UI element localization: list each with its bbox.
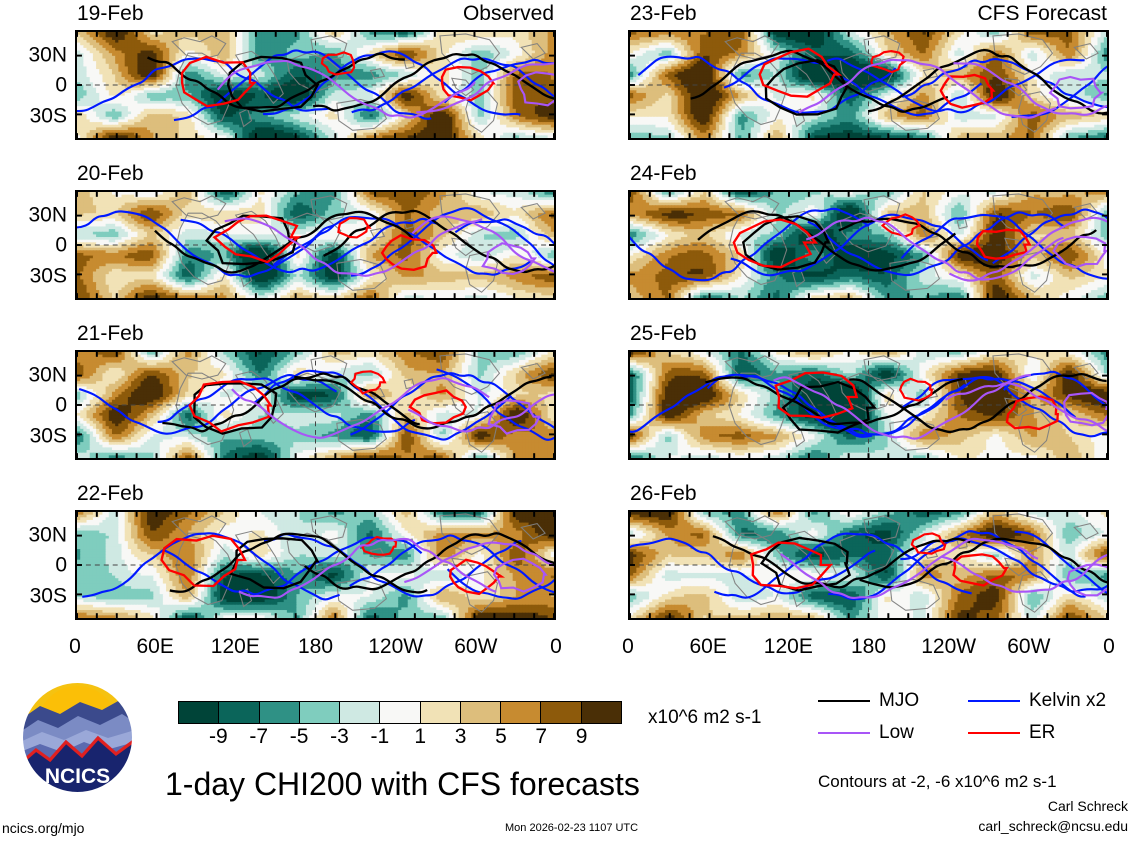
map-panel-22-feb: 22-Feb30N030S — [75, 510, 556, 620]
colorbar-tick-label: -5 — [290, 726, 309, 747]
map-field — [77, 192, 554, 298]
page-title: 1-day CHI200 with CFS forecasts — [165, 766, 640, 803]
colorbar-swatch — [219, 702, 259, 723]
panel-column-header: CFS Forecast — [977, 3, 1107, 24]
y-tick-label: 30S — [30, 425, 67, 446]
colorbar-units-label: x10^6 m2 s-1 — [648, 707, 761, 729]
colorbar-tick-label: -9 — [209, 726, 228, 747]
x-tick-label: 0 — [69, 636, 81, 657]
legend-label-low: Low — [879, 722, 914, 744]
site-url[interactable]: ncics.org/mjo — [2, 820, 84, 836]
map-panel-24-feb: 24-Feb — [628, 190, 1109, 300]
y-tick-label: 30N — [28, 204, 67, 225]
panel-date-label: 21-Feb — [77, 323, 144, 344]
author-email: carl_schreck@ncsu.edu — [978, 818, 1128, 834]
map-canvas — [628, 510, 1109, 620]
y-tick-label: 30N — [28, 364, 67, 385]
legend-label-kelvin: Kelvin x2 — [1029, 690, 1106, 712]
ncics-logo: NCICS — [20, 680, 135, 795]
colorbar-tick-label: 1 — [414, 726, 426, 747]
panel-date-label: 19-Feb — [77, 3, 144, 24]
map-field — [630, 192, 1107, 298]
y-tick-label: 30N — [28, 524, 67, 545]
colorbar-swatch — [582, 702, 621, 723]
x-tick-label: 120E — [211, 636, 260, 657]
colorbar: -9-7-5-3-113579 — [178, 701, 622, 752]
colorbar-tick-label: -1 — [370, 726, 389, 747]
map-canvas — [628, 30, 1109, 140]
colorbar-swatch — [300, 702, 340, 723]
legend-item-mjo: MJO — [818, 690, 968, 712]
map-canvas — [75, 510, 556, 620]
map-panel-23-feb: 23-FebCFS Forecast — [628, 30, 1109, 140]
chart-page: 19-FebObserved30N030S20-Feb30N030S21-Feb… — [0, 0, 1135, 844]
colorbar-swatch — [380, 702, 420, 723]
y-tick-label: 30N — [28, 44, 67, 65]
map-panel-20-feb: 20-Feb30N030S — [75, 190, 556, 300]
legend-item-low: Low — [818, 722, 968, 744]
x-tick-label: 0 — [622, 636, 634, 657]
colorbar-ticklabels: -9-7-5-3-113579 — [178, 726, 622, 752]
x-tick-label: 60W — [1007, 636, 1050, 657]
x-tick-label: 180 — [851, 636, 886, 657]
colorbar-tick-label: 3 — [455, 726, 467, 747]
colorbar-swatch — [541, 702, 581, 723]
map-field — [630, 512, 1107, 618]
map-field — [77, 352, 554, 458]
legend-label-mjo: MJO — [879, 690, 919, 712]
x-tick-label: 60W — [454, 636, 497, 657]
x-tick-label: 0 — [550, 636, 562, 657]
map-field — [630, 32, 1107, 138]
x-tick-label: 0 — [1103, 636, 1115, 657]
map-canvas — [75, 350, 556, 460]
colorbar-swatches — [178, 701, 622, 724]
map-canvas — [628, 350, 1109, 460]
map-canvas — [75, 30, 556, 140]
y-tick-label: 30S — [30, 585, 67, 606]
er-line-swatch — [968, 732, 1020, 734]
map-field — [77, 512, 554, 618]
legend-label-er: ER — [1029, 722, 1055, 744]
colorbar-tick-label: 7 — [535, 726, 547, 747]
colorbar-swatch — [461, 702, 501, 723]
y-tick-label: 30S — [30, 105, 67, 126]
colorbar-tick-label: -7 — [249, 726, 268, 747]
x-tick-label: 60E — [689, 636, 726, 657]
panel-date-label: 25-Feb — [630, 323, 697, 344]
legend-item-er: ER — [968, 722, 1128, 744]
map-field — [77, 32, 554, 138]
panel-date-label: 20-Feb — [77, 163, 144, 184]
y-tick-label: 0 — [55, 235, 67, 256]
y-tick-label: 0 — [55, 555, 67, 576]
colorbar-swatch — [421, 702, 461, 723]
panel-date-label: 22-Feb — [77, 483, 144, 504]
panel-date-label: 23-Feb — [630, 3, 697, 24]
y-tick-label: 30S — [30, 265, 67, 286]
colorbar-swatch — [340, 702, 380, 723]
x-tick-label: 180 — [298, 636, 333, 657]
map-field — [630, 352, 1107, 458]
colorbar-swatch — [260, 702, 300, 723]
x-axis-left: 060E120E180120W60W0 — [75, 636, 556, 662]
contour-note: Contours at -2, -6 x10^6 m2 s-1 — [818, 772, 1057, 792]
colorbar-tick-label: 9 — [576, 726, 588, 747]
panel-date-label: 24-Feb — [630, 163, 697, 184]
y-tick-label: 0 — [55, 395, 67, 416]
x-tick-label: 60E — [136, 636, 173, 657]
map-panel-21-feb: 21-Feb30N030S — [75, 350, 556, 460]
map-panel-25-feb: 25-Feb — [628, 350, 1109, 460]
colorbar-tick-label: -3 — [330, 726, 349, 747]
mjo-line-swatch — [818, 700, 870, 702]
timestamp: Mon 2026-02-23 1107 UTC — [505, 822, 638, 834]
x-tick-label: 120W — [921, 636, 976, 657]
kelvin-line-swatch — [968, 700, 1020, 702]
colorbar-swatch — [179, 702, 219, 723]
panel-date-label: 26-Feb — [630, 483, 697, 504]
low-line-swatch — [818, 732, 870, 734]
contour-legend: MJO Kelvin x2 Low ER — [818, 690, 1128, 744]
colorbar-swatch — [501, 702, 541, 723]
legend-item-kelvin: Kelvin x2 — [968, 690, 1128, 712]
panel-column-header: Observed — [463, 3, 554, 24]
map-panel-26-feb: 26-Feb — [628, 510, 1109, 620]
y-tick-label: 0 — [55, 75, 67, 96]
x-tick-label: 120E — [764, 636, 813, 657]
x-tick-label: 120W — [368, 636, 423, 657]
map-canvas — [75, 190, 556, 300]
x-axis-right: 060E120E180120W60W0 — [628, 636, 1109, 662]
author-name: Carl Schreck — [1048, 798, 1128, 814]
map-canvas — [628, 190, 1109, 300]
map-panel-19-feb: 19-FebObserved30N030S — [75, 30, 556, 140]
colorbar-tick-label: 5 — [495, 726, 507, 747]
